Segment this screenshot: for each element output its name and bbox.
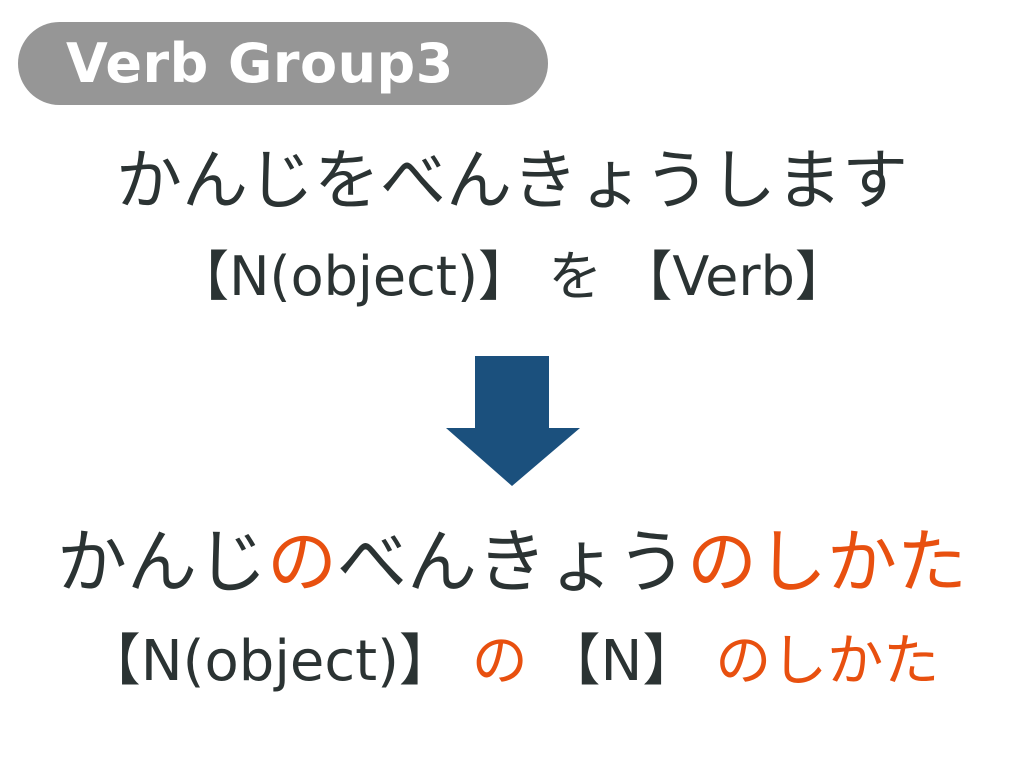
before-pattern-noun-bracket: 【N(object)】 [175,245,532,308]
verb-group-badge: Verb Group3 [18,22,548,105]
slide-canvas: Verb Group3 かんじをべんきょうします 【N(object)】を【Ve… [0,0,1024,768]
transform-arrow [446,356,580,486]
after-sentence-suffix: のしかた [687,521,967,603]
after-sentence-particle1: の [267,521,337,603]
before-sentence: かんじをべんきょうします [0,148,1024,214]
after-pattern-noun-bracket: 【N(object)】 [85,629,455,694]
verb-group-badge-label: Verb Group3 [18,37,454,91]
after-pattern-suffix: のしかた [715,629,939,694]
arrow-down-icon [446,356,580,486]
after-sentence: かんじのべんきょうのしかた [0,527,1024,597]
before-sentence-text: かんじをべんきょうします [116,142,908,219]
before-pattern: 【N(object)】を【Verb】 [0,250,1024,304]
after-pattern: 【N(object)】の【N】のしかた [0,634,1024,690]
after-sentence-verb-noun: べんきょう [337,521,687,603]
before-pattern-verb-bracket: 【Verb】 [618,245,848,308]
after-sentence-noun: かんじ [57,521,267,603]
after-pattern-particle1: の [472,629,528,694]
after-pattern-n-bracket: 【N】 [545,629,699,694]
before-pattern-particle: を [548,245,602,308]
